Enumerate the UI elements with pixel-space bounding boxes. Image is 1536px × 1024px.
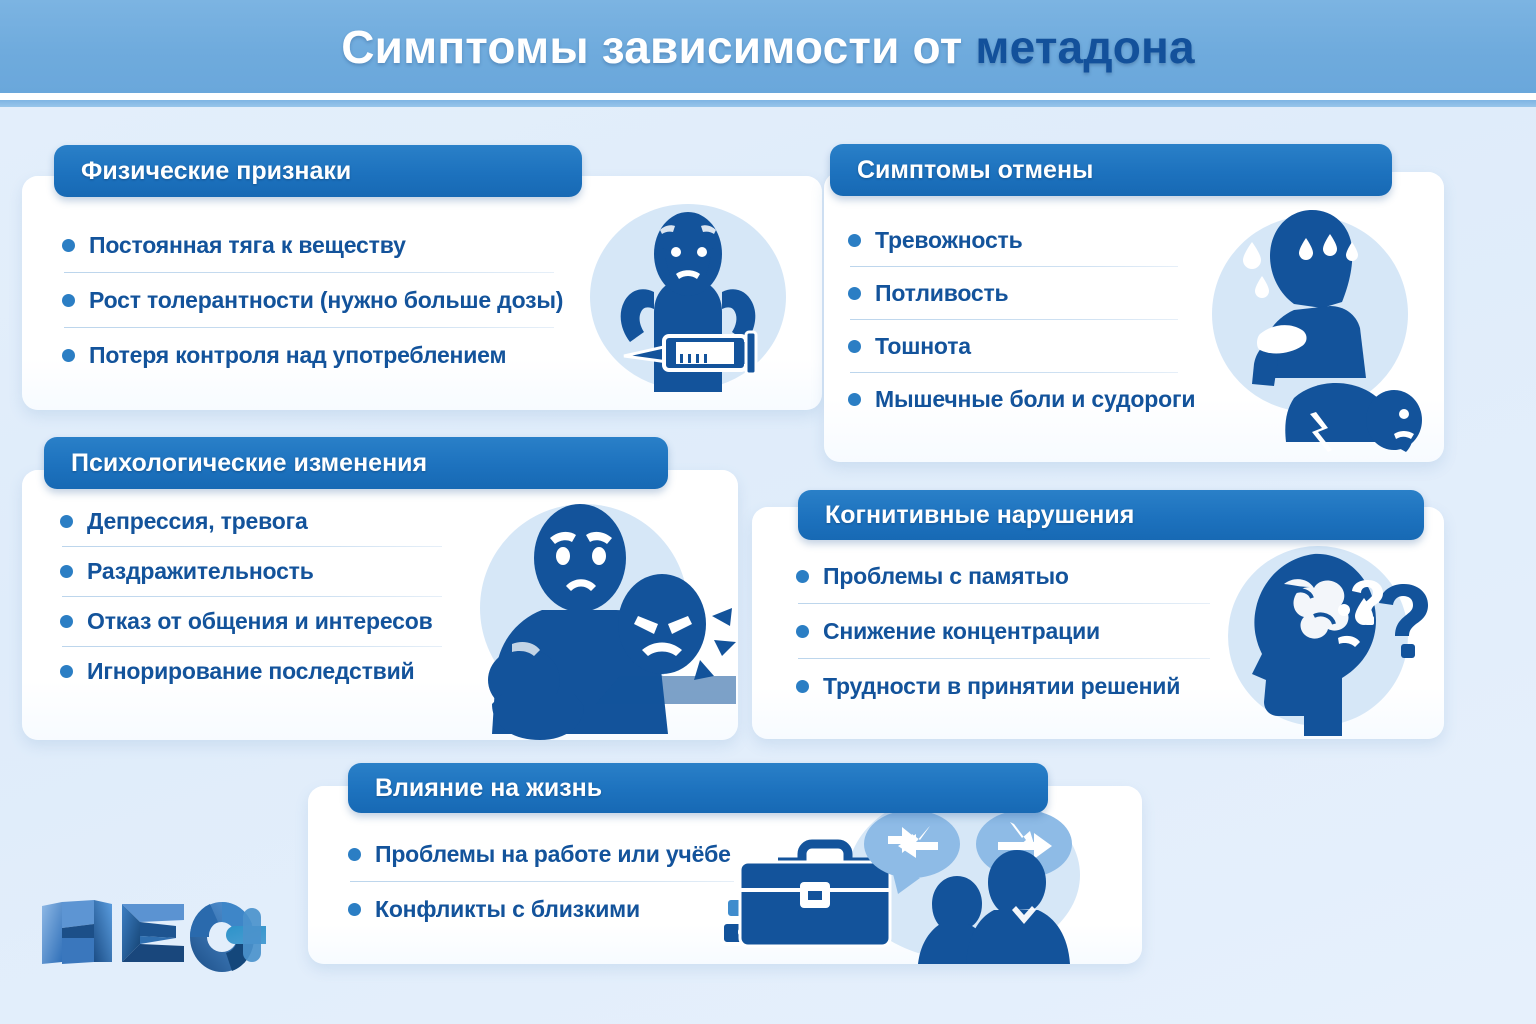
card-physical-tab: Физические признаки	[54, 145, 582, 197]
bullet-icon	[60, 665, 73, 678]
list-item-label: Постоянная тяга к веществу	[89, 232, 406, 259]
bullet-icon	[848, 234, 861, 247]
list-item-label: Рост толерантности (нужно больше дозы)	[89, 287, 563, 314]
bullet-icon	[848, 393, 861, 406]
card-cognitive-icon	[1218, 540, 1444, 736]
bullet-icon	[62, 239, 75, 252]
bullet-icon	[60, 515, 73, 528]
list-divider	[62, 596, 442, 597]
list-item: Отказ от общения и интересов	[60, 606, 460, 637]
list-item: Снижение концентрации	[796, 615, 1226, 647]
card-physical-list: Постоянная тяга к веществу Рост толерант…	[62, 228, 562, 372]
page-title-main: Симптомы зависимости от	[341, 21, 975, 73]
stressed-person-syringe-icon	[576, 196, 800, 396]
list-divider	[62, 546, 442, 547]
neo-plus-logo: НЕО+	[36, 892, 266, 972]
card-physical-icon	[576, 196, 800, 396]
list-item: Тошнота	[848, 330, 1248, 362]
card-life-impact-list: Проблемы на работе или учёбе Конфликты с…	[348, 838, 768, 925]
list-item: Тревожность	[848, 224, 1248, 256]
logo-mark-icon	[36, 892, 266, 972]
list-divider	[798, 658, 1210, 659]
list-divider	[62, 646, 442, 647]
card-psychological-title: Психологические изменения	[44, 449, 427, 478]
bullet-icon	[848, 340, 861, 353]
bullet-icon	[348, 903, 361, 916]
list-divider	[850, 319, 1178, 320]
list-item: Раздражительность	[60, 556, 460, 587]
page-title-accent: метадона	[975, 21, 1194, 73]
bullet-icon	[348, 848, 361, 861]
list-divider	[350, 881, 734, 882]
list-item-label: Раздражительность	[87, 558, 314, 585]
list-item-label: Тошнота	[875, 333, 971, 360]
bullet-icon	[848, 287, 861, 300]
list-item-label: Потеря контроля над употреблением	[89, 342, 506, 369]
card-withdrawal-list: Тревожность Потливость Тошнота Мышечные …	[848, 224, 1248, 415]
list-item: Игнорирование последствий	[60, 656, 460, 687]
list-item: Депрессия, тревога	[60, 506, 460, 537]
list-item-label: Игнорирование последствий	[87, 658, 414, 685]
list-item-label: Проблемы с памятыо	[823, 563, 1069, 590]
list-item-label: Потливость	[875, 280, 1009, 307]
card-withdrawal-tab: Симптомы отмены	[830, 144, 1392, 196]
list-item-label: Тревожность	[875, 227, 1023, 254]
card-cognitive-title: Когнитивные нарушения	[798, 501, 1134, 530]
list-item: Постоянная тяга к веществу	[62, 228, 562, 262]
card-physical-title: Физические признаки	[54, 157, 351, 186]
list-item: Потеря контроля над употреблением	[62, 338, 562, 372]
list-divider	[64, 272, 554, 273]
card-psychological-list: Депрессия, тревога Раздражительность Отк…	[60, 506, 460, 687]
header-divider	[0, 93, 1536, 100]
bullet-icon	[796, 570, 809, 583]
list-item-label: Мышечные боли и судороги	[875, 386, 1195, 413]
list-divider	[798, 603, 1210, 604]
list-item: Потливость	[848, 277, 1248, 309]
sad-and-angry-faces-icon	[450, 498, 736, 740]
list-item-label: Отказ от общения и интересов	[87, 608, 433, 635]
sweating-nausea-person-icon	[1198, 198, 1448, 454]
bullet-icon	[60, 565, 73, 578]
bullet-icon	[62, 349, 75, 362]
list-item-label: Депрессия, тревога	[87, 508, 308, 535]
card-psychological-icon	[450, 498, 736, 740]
list-item: Конфликты с близкими	[348, 893, 768, 925]
list-item: Проблемы с памятыо	[796, 560, 1226, 592]
card-cognitive-tab: Когнитивные нарушения	[798, 490, 1424, 540]
list-item: Проблемы на работе или учёбе	[348, 838, 768, 870]
list-item-label: Трудности в принятии решений	[823, 673, 1180, 700]
card-psychological-tab: Психологические изменения	[44, 437, 668, 489]
page-header: Симптомы зависимости от метадона	[0, 0, 1536, 93]
list-item: Рост толерантности (нужно больше дозы)	[62, 283, 562, 317]
bullet-icon	[62, 294, 75, 307]
header-stripe	[0, 100, 1536, 107]
list-divider	[850, 372, 1178, 373]
list-item-label: Проблемы на работе или учёбе	[375, 841, 731, 868]
head-brain-question-icon	[1218, 540, 1444, 736]
list-item-label: Снижение концентрации	[823, 618, 1100, 645]
card-cognitive-list: Проблемы с памятыо Снижение концентрации…	[796, 560, 1226, 702]
card-withdrawal-icon	[1198, 198, 1448, 454]
bullet-icon	[796, 625, 809, 638]
list-item: Мышечные боли и судороги	[848, 383, 1248, 415]
list-divider	[850, 266, 1178, 267]
bullet-icon	[796, 680, 809, 693]
list-item-label: Конфликты с близкими	[375, 896, 640, 923]
page-title: Симптомы зависимости от метадона	[341, 20, 1195, 74]
card-life-impact-title: Влияние на жизнь	[348, 774, 602, 803]
list-item: Трудности в принятии решений	[796, 670, 1226, 702]
card-withdrawal-title: Симптомы отмены	[830, 156, 1093, 185]
bullet-icon	[60, 615, 73, 628]
card-life-impact-tab: Влияние на жизнь	[348, 763, 1048, 813]
list-divider	[64, 327, 554, 328]
